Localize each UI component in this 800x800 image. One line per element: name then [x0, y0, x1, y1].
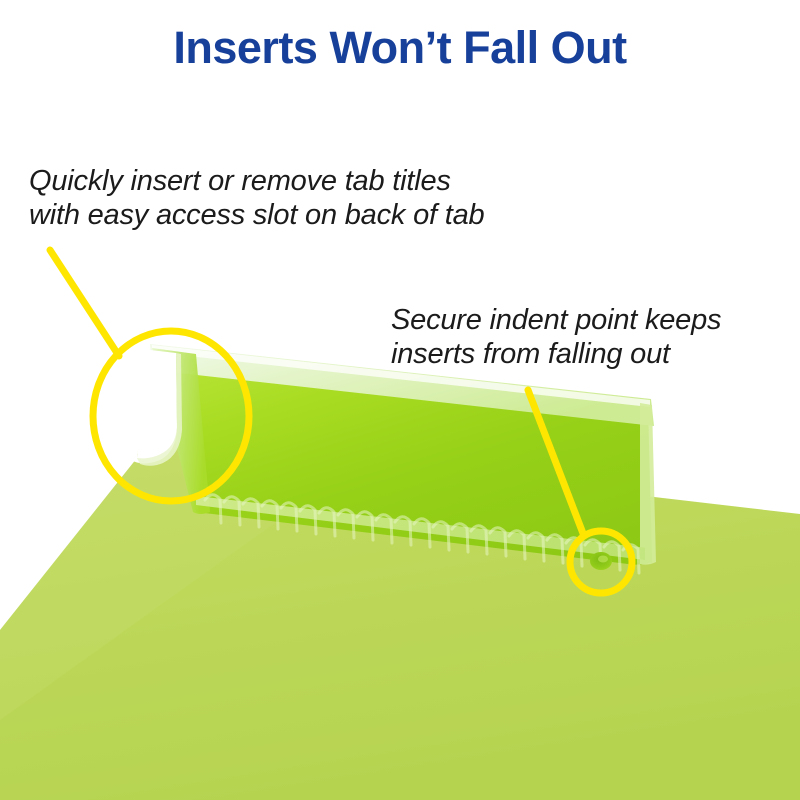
tab-right-edge	[640, 403, 656, 565]
page-title: Inserts Won’t Fall Out	[0, 22, 800, 74]
callout-text-indent-point: Secure indent point keeps inserts from f…	[391, 303, 721, 371]
product-photo	[0, 300, 800, 800]
product-feature-image: Inserts Won’t Fall Out	[0, 0, 800, 800]
callout-text-access-slot: Quickly insert or remove tab titles with…	[29, 164, 484, 232]
access-slot-notch	[123, 350, 177, 464]
product-illustration	[0, 300, 800, 800]
indent-point-dimple-highlight	[598, 556, 608, 563]
